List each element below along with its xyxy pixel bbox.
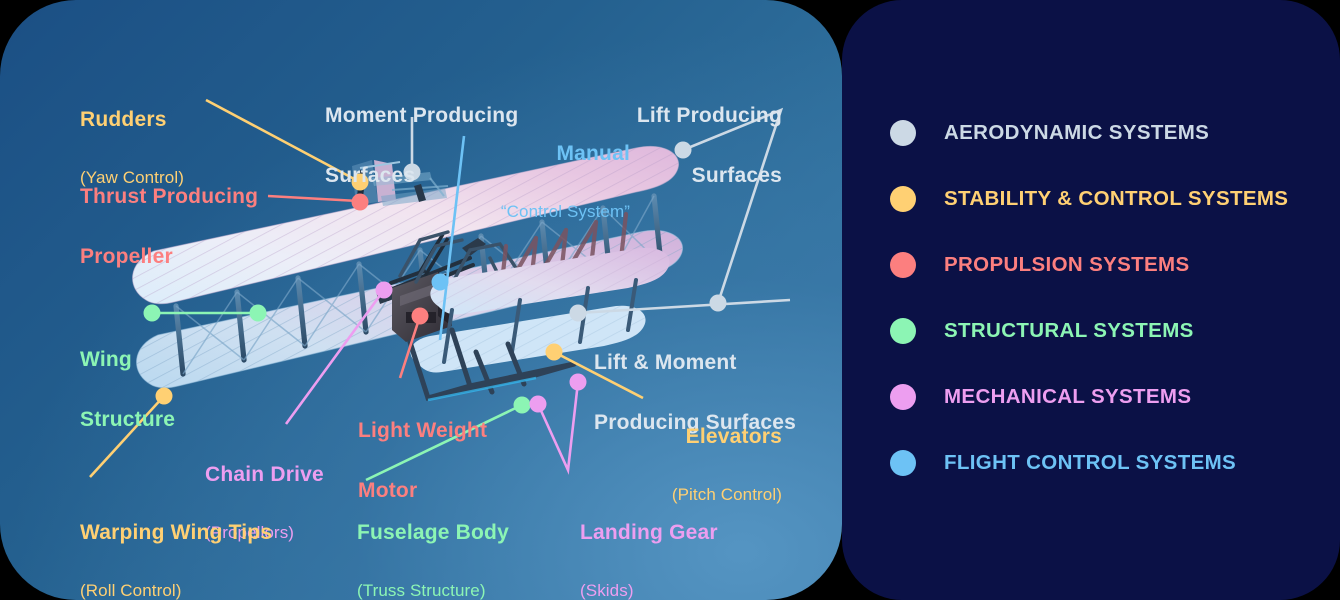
legend-item-label: STABILITY & CONTROL SYSTEMS [944, 187, 1288, 211]
callout-subtitle: Surfaces [560, 164, 782, 188]
legend-item-label: PROPULSION SYSTEMS [944, 253, 1190, 277]
callout-title: Elevators [580, 425, 782, 449]
callout-label-landing: Landing Gear (Skids) [580, 485, 718, 600]
callout-label-warping: Warping Wing Tips (Roll Control) [80, 485, 272, 600]
callout-title: Fuselage Body [357, 521, 509, 545]
legend-item-label: STRUCTURAL SYSTEMS [944, 319, 1194, 343]
legend-item-mechanical[interactable]: MECHANICAL SYSTEMS [890, 364, 1320, 430]
callout-subtitle: Propeller [80, 245, 258, 269]
legend-item-aerodynamic[interactable]: AERODYNAMIC SYSTEMS [890, 100, 1320, 166]
legend-item-flight-control[interactable]: FLIGHT CONTROL SYSTEMS [890, 430, 1320, 496]
legend-item-structural[interactable]: STRUCTURAL SYSTEMS [890, 298, 1320, 364]
leader-landing [530, 374, 587, 471]
callout-label-fuselage: Fuselage Body (Truss Structure) [357, 485, 509, 600]
callout-subtitle: Structure [80, 408, 175, 432]
legend-dot-icon [890, 252, 916, 278]
callout-title: Lift & Moment [594, 351, 796, 375]
legend-item-stability[interactable]: STABILITY & CONTROL SYSTEMS [890, 166, 1320, 232]
callout-title: Rudders [80, 108, 184, 132]
callout-title: Landing Gear [580, 521, 718, 545]
legend-item-propulsion[interactable]: PROPULSION SYSTEMS [890, 232, 1320, 298]
legend-item-label: FLIGHT CONTROL SYSTEMS [944, 451, 1236, 475]
legend-dot-icon [890, 186, 916, 212]
callout-label-lift: Lift Producing Surfaces [560, 68, 782, 224]
legend-dot-icon [890, 318, 916, 344]
legend-dot-icon [890, 384, 916, 410]
leader-motor [400, 308, 429, 379]
callout-label-wing: Wing Structure [80, 312, 175, 468]
callout-subtitle: (Roll Control) [80, 581, 272, 600]
legend-panel: AERODYNAMIC SYSTEMS STABILITY & CONTROL … [842, 0, 1340, 600]
callout-title: Lift Producing [560, 104, 782, 128]
legend-dot-icon [890, 450, 916, 476]
callout-label-thrust: Thrust Producing Propeller [80, 149, 258, 305]
callout-title: Wing [80, 348, 175, 372]
callout-title: Chain Drive [205, 463, 324, 487]
infographic-root: Rudders (Yaw Control) Thrust Producing P… [0, 0, 1340, 600]
legend-dot-icon [890, 120, 916, 146]
diagram-panel: Rudders (Yaw Control) Thrust Producing P… [0, 0, 842, 600]
callout-title: Thrust Producing [80, 185, 258, 209]
callout-subtitle: (Truss Structure) [357, 581, 509, 600]
legend-item-label: AERODYNAMIC SYSTEMS [944, 121, 1209, 145]
legend-item-label: MECHANICAL SYSTEMS [944, 385, 1191, 409]
callout-subtitle: (Skids) [580, 581, 718, 600]
callout-title: Warping Wing Tips [80, 521, 272, 545]
callout-title: Light Weight [358, 419, 487, 443]
legend-list: AERODYNAMIC SYSTEMS STABILITY & CONTROL … [890, 100, 1320, 496]
